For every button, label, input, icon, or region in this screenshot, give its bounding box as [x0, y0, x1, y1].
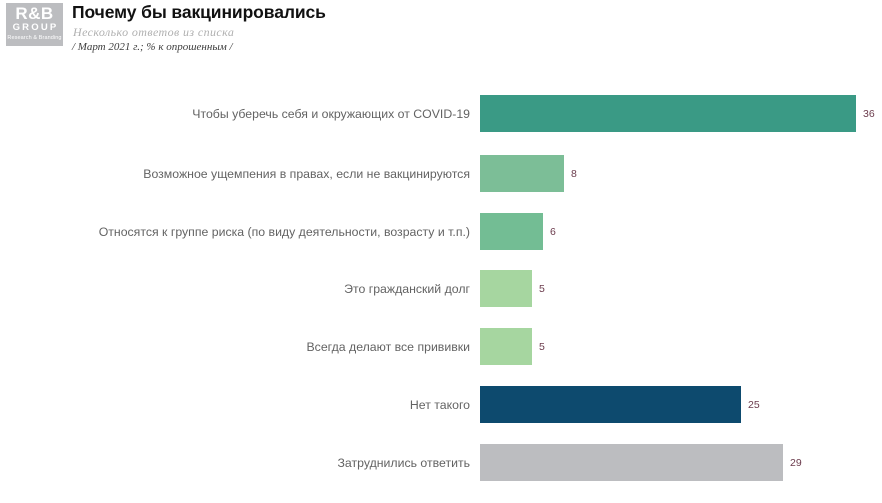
- chart-source-note: / Март 2021 г.; % к опрошенным /: [72, 41, 233, 53]
- bar-value-label: 5: [539, 341, 545, 353]
- horizontal-bar-chart: Чтобы уберечь себя и окружающих от COVID…: [0, 70, 882, 503]
- bar-segment: [480, 155, 564, 192]
- bar-segment: [480, 95, 856, 132]
- bar-segment: [480, 270, 532, 307]
- bar-row: Чтобы уберечь себя и окружающих от COVID…: [0, 95, 882, 132]
- logo-secondary-text: GROUP: [8, 22, 63, 33]
- bar-row: Относятся к группе риска (по виду деятел…: [0, 213, 882, 250]
- bar-value-label: 6: [550, 226, 556, 238]
- chart-subtitle: Несколько ответов из списка: [73, 25, 234, 40]
- bar-segment: [480, 386, 741, 423]
- logo-primary-text: R&B: [6, 5, 63, 22]
- bar-category-label: Всегда делают все прививки: [306, 340, 470, 354]
- bar-row: Затруднились ответить29: [0, 444, 882, 481]
- bar-row: Возможное ущемпения в правах, если не ва…: [0, 155, 882, 192]
- bar-row: Всегда делают все прививки5: [0, 328, 882, 365]
- chart-header: R&B GROUP Research & Branding Почему бы …: [0, 0, 882, 70]
- bar-row: Это гражданский долг5: [0, 270, 882, 307]
- bar-segment: [480, 213, 543, 250]
- bar-value-label: 25: [748, 399, 760, 411]
- bar-category-label: Относятся к группе риска (по виду деятел…: [99, 225, 470, 239]
- bar-value-label: 8: [571, 168, 577, 180]
- bar-value-label: 29: [790, 457, 802, 469]
- bar-value-label: 5: [539, 283, 545, 295]
- logo-tagline-text: Research & Branding: [6, 34, 63, 42]
- bar-category-label: Нет такого: [410, 398, 470, 412]
- bar-segment: [480, 444, 783, 481]
- bar-category-label: Чтобы уберечь себя и окружающих от COVID…: [192, 107, 470, 121]
- page-title: Почему бы вакцинировались: [72, 2, 326, 23]
- bar-value-label: 36: [863, 108, 875, 120]
- bar-category-label: Возможное ущемпения в правах, если не ва…: [143, 167, 470, 181]
- rb-group-logo: R&B GROUP Research & Branding: [6, 3, 63, 46]
- bar-category-label: Затруднились ответить: [338, 456, 471, 470]
- bar-segment: [480, 328, 532, 365]
- bar-category-label: Это гражданский долг: [344, 282, 470, 296]
- bar-row: Нет такого25: [0, 386, 882, 423]
